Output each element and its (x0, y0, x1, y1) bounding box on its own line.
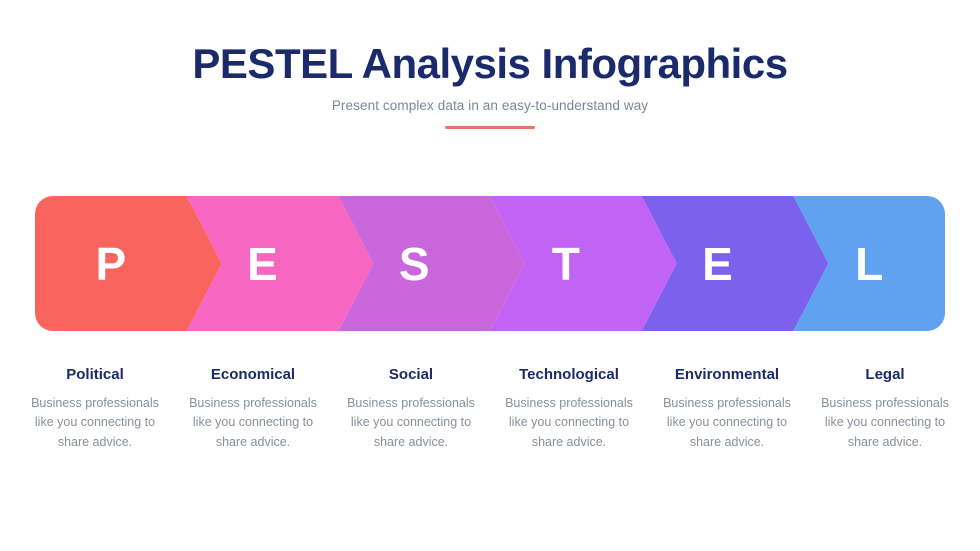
caption-column-political: PoliticalBusiness professionals like you… (16, 366, 174, 452)
pestel-chevron-band: PESTEL (35, 196, 945, 331)
caption-title-technological: Technological (496, 366, 642, 385)
caption-body-environmental: Business professionals like you connecti… (654, 394, 800, 452)
caption-column-legal: LegalBusiness professionals like you con… (806, 366, 964, 452)
caption-column-technological: TechnologicalBusiness professionals like… (490, 366, 648, 452)
chevron-letter-6: L (793, 196, 945, 331)
caption-body-legal: Business professionals like you connecti… (812, 394, 958, 452)
chevron-letter-3: S (338, 196, 490, 331)
chevron-letter-4: T (490, 196, 642, 331)
caption-body-economical: Business professionals like you connecti… (180, 394, 326, 452)
caption-title-environmental: Environmental (654, 366, 800, 385)
caption-row: PoliticalBusiness professionals like you… (16, 366, 964, 452)
chevron-letter-2: E (187, 196, 339, 331)
page-subtitle: Present complex data in an easy-to-under… (0, 98, 980, 113)
caption-title-social: Social (338, 366, 484, 385)
caption-body-social: Business professionals like you connecti… (338, 394, 484, 452)
caption-title-political: Political (22, 366, 168, 385)
caption-column-economical: EconomicalBusiness professionals like yo… (174, 366, 332, 452)
chevron-letter-5: E (642, 196, 794, 331)
header: PESTEL Analysis Infographics Present com… (0, 40, 980, 129)
caption-body-technological: Business professionals like you connecti… (496, 394, 642, 452)
infographic-page: PESTEL Analysis Infographics Present com… (0, 0, 980, 551)
caption-column-environmental: EnvironmentalBusiness professionals like… (648, 366, 806, 452)
chevron-letters: PESTEL (35, 196, 945, 331)
caption-body-political: Business professionals like you connecti… (22, 394, 168, 452)
caption-column-social: SocialBusiness professionals like you co… (332, 366, 490, 452)
chevron-letter-1: P (35, 196, 187, 331)
accent-divider (445, 126, 535, 129)
caption-title-legal: Legal (812, 366, 958, 385)
page-title: PESTEL Analysis Infographics (0, 40, 980, 88)
caption-title-economical: Economical (180, 366, 326, 385)
